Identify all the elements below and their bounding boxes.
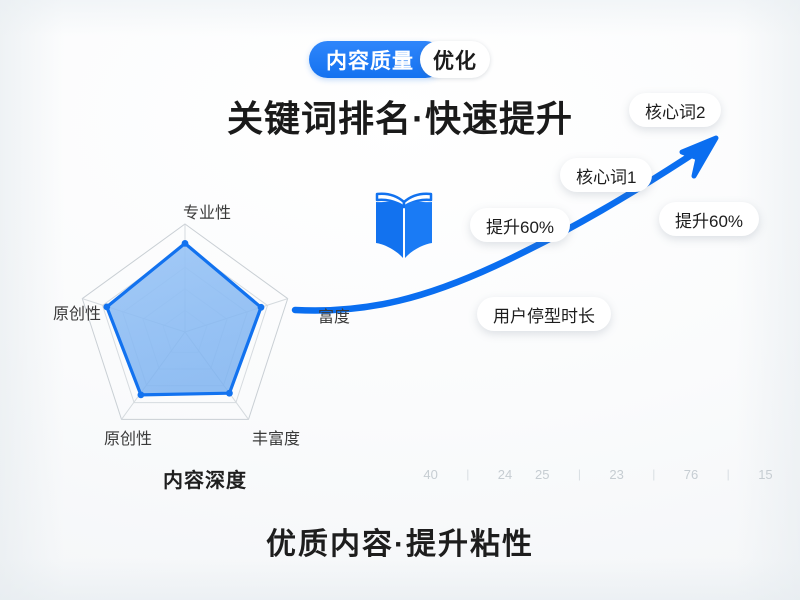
axis-tick-mark: | [635,467,672,481]
poster-canvas: 内容质量 优化 关键词排名·快速提升 [0,0,800,600]
axis-tick-value: 15 [747,467,784,482]
footer-caption: 优质内容·提升粘性 [0,519,800,563]
callout-uplift-right[interactable]: 提升60% [659,202,759,236]
radar-label-left: 原创性 [53,300,101,324]
open-book-icon [372,186,436,262]
radar-label-top: 专业性 [183,199,231,223]
callout-uplift-left[interactable]: 提升60% [470,208,570,242]
axis-tick-mark: | [449,467,486,481]
badge: 内容质量 优化 [309,41,490,78]
faint-axis-strip: 40 | 24 25 | 23 | 76 | 15 [412,462,784,486]
axis-tick-value: 24 [486,467,523,482]
badge-secondary: 优化 [420,41,490,78]
radar-label-bottom-right: 丰富度 [252,425,300,449]
axis-tick-value: 23 [598,467,635,482]
radar-series-area [107,243,261,395]
radar-subcaption: 内容深度 [163,464,247,493]
axis-tick-value: 25 [524,467,561,482]
callout-core-keyword-1[interactable]: 核心词1 [560,158,652,192]
radar-label-right: 富度 [318,303,350,327]
axis-tick-value: 40 [412,467,449,482]
radar-chart [40,222,330,452]
axis-tick-mark: | [710,467,747,481]
callout-core-keyword-2[interactable]: 核心词2 [629,93,721,127]
callout-dwell-time[interactable]: 用户停型时长 [477,297,611,331]
radar-label-bottom-left: 原创性 [104,425,152,449]
axis-tick-value: 76 [672,467,709,482]
axis-tick-mark: | [561,467,598,481]
